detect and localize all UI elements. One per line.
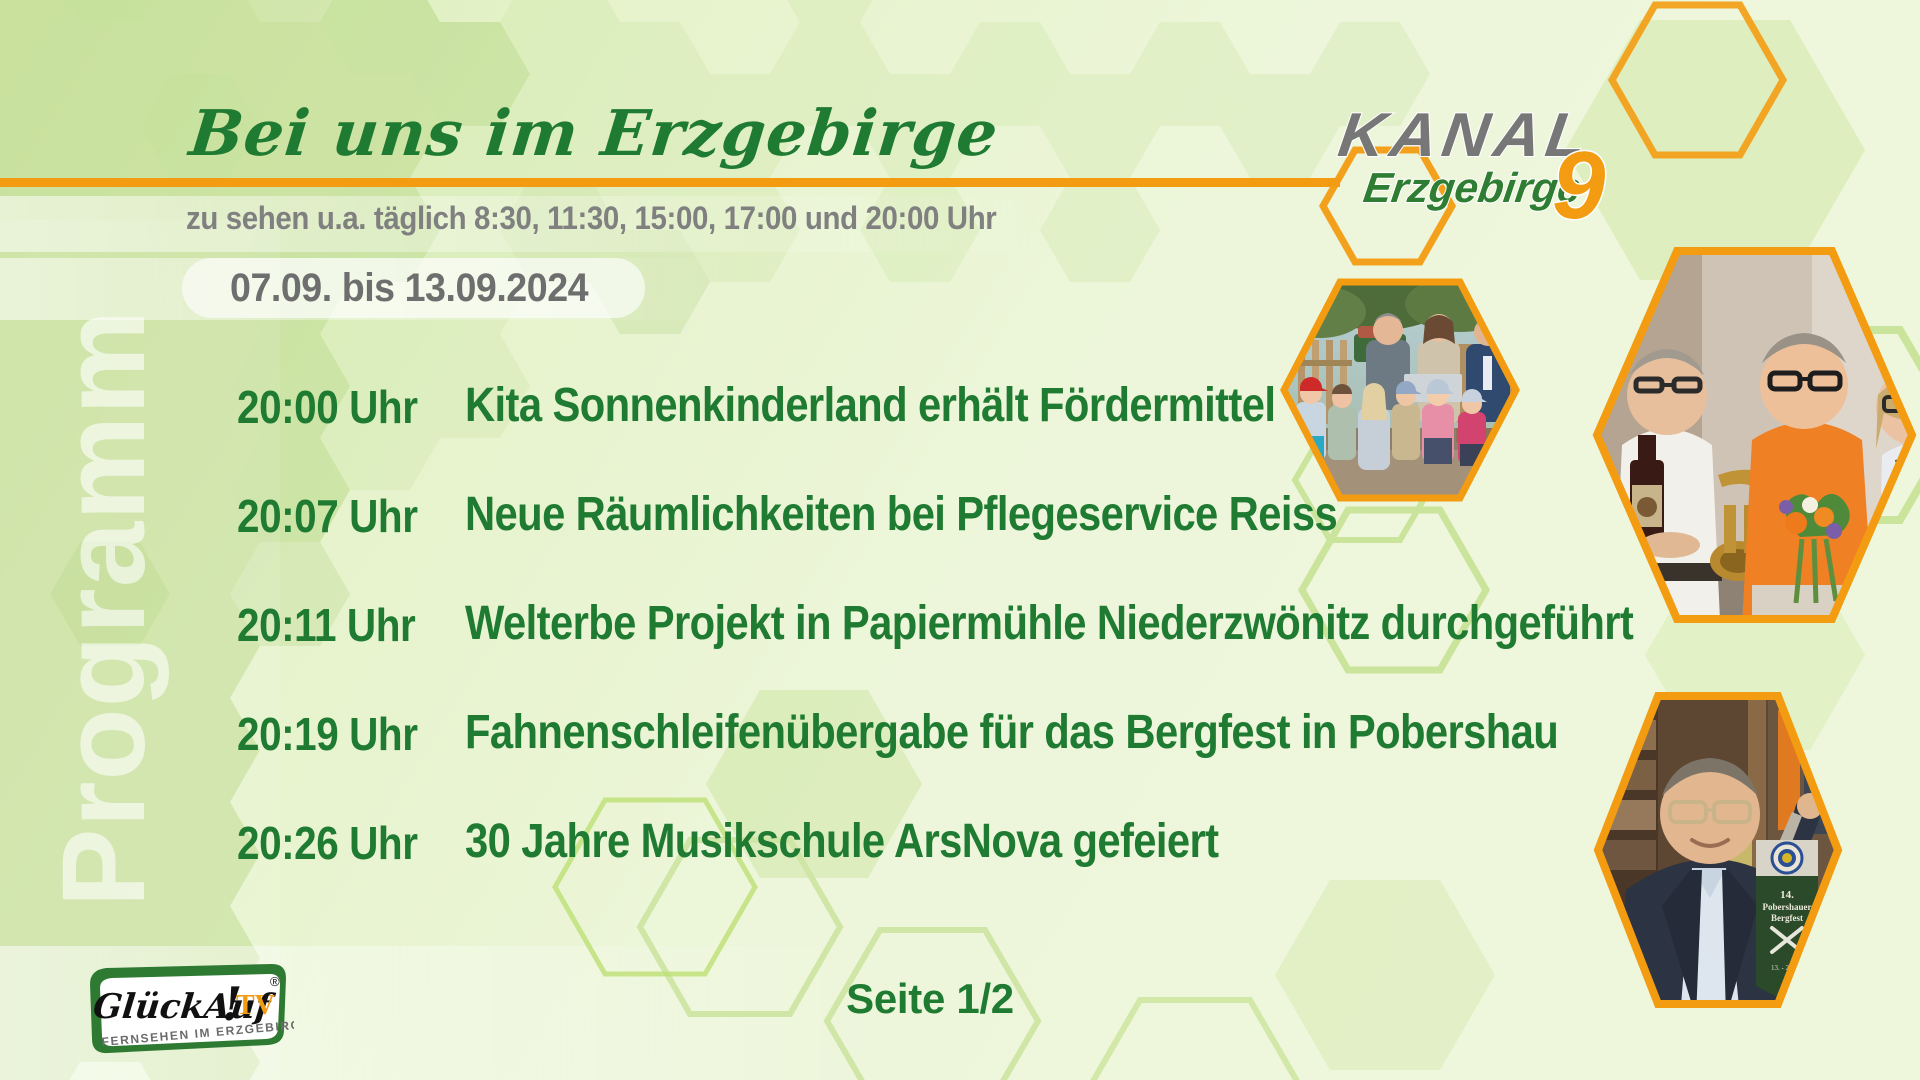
- kanal9-logo: KANAL Erzgebirge 9: [1340, 96, 1640, 231]
- logo-registered-mark: ®: [270, 974, 280, 989]
- photo-kita-group: [1280, 278, 1520, 503]
- program-title: Kita Sonnenkinderland erhält Fördermitte…: [465, 378, 1275, 433]
- program-title: 30 Jahre Musikschule ArsNova gefeiert: [465, 814, 1218, 869]
- flag-line-1: 14.: [1780, 889, 1794, 901]
- header-divider-rule: [0, 178, 1340, 187]
- photo-pflegeservice: [1582, 245, 1920, 645]
- flag-line-3: Bergfest: [1771, 913, 1803, 923]
- logo-tv-text: TV: [236, 990, 275, 1021]
- program-title: Welterbe Projekt in Papiermühle Niederzw…: [465, 596, 1633, 651]
- program-time: 20:07 Uhr: [237, 489, 418, 543]
- program-time: 20:11 Uhr: [237, 598, 415, 652]
- airtimes-text: zu sehen u.a. täglich 8:30, 11:30, 15:00…: [186, 200, 996, 237]
- show-title: Bei uns im Erzgebirge: [186, 96, 1002, 170]
- program-title: Neue Räumlichkeiten bei Pflegeservice Re…: [465, 487, 1337, 542]
- channel-number-nine: 9: [1552, 138, 1605, 234]
- erzgebirge-logo-word: Erzgebirge: [1361, 164, 1585, 212]
- program-time: 20:19 Uhr: [237, 707, 418, 761]
- program-title: Fahnenschleifenübergabe für das Bergfest…: [465, 705, 1558, 760]
- program-time: 20:00 Uhr: [237, 380, 418, 434]
- program-time: 20:26 Uhr: [237, 816, 418, 870]
- date-range-text: 07.09. bis 13.09.2024: [230, 266, 588, 311]
- glueckauf-tv-logo: GlückAuf ! TV ® FERNSEHEN IM ERZGEBIRGE: [84, 962, 294, 1060]
- date-range-badge: 07.09. bis 13.09.2024: [182, 258, 645, 318]
- flag-line-2: Pobershauer: [1763, 902, 1812, 912]
- photo-bergfest: 14. Pobershauer Bergfest 13. - 22.09.: [1568, 690, 1868, 1010]
